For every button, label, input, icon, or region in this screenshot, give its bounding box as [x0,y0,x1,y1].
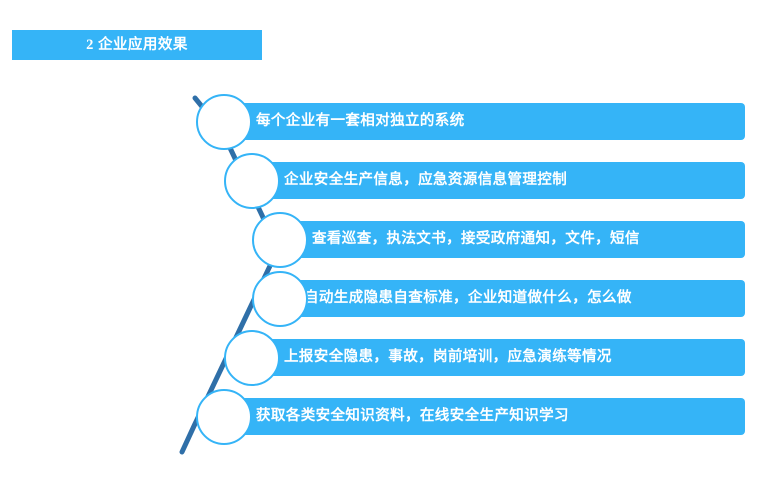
step-node-circle[interactable] [252,271,308,327]
step-bar[interactable]: 获取各类安全知识资料，在线安全生产知识学习 [226,398,745,435]
step-label: 上报安全隐患，事故，岗前培训，应急演练等情况 [284,350,612,365]
step-node-circle[interactable] [252,212,308,268]
step-node-circle[interactable] [196,389,252,445]
step-bar[interactable]: 企业安全生产信息，应急资源信息管理控制 [254,162,745,199]
step-bar[interactable]: 上报安全隐患，事故，岗前培训，应急演练等情况 [254,339,745,376]
step-label: 获取各类安全知识资料，在线安全生产知识学习 [256,409,569,424]
step-node-circle[interactable] [224,330,280,386]
step-label: 每个企业有一套相对独立的系统 [256,114,465,129]
step-label: 企业安全生产信息，应急资源信息管理控制 [284,173,567,188]
slide-canvas: 2 企业应用效果 每个企业有一套相对独立的系统 企业安全生产信息，应急资源信息管… [0,0,777,482]
step-node-circle[interactable] [224,153,280,209]
step-bar[interactable]: 每个企业有一套相对独立的系统 [226,103,745,140]
step-label: 查看巡查，执法文书，接受政府通知，文件，短信 [312,232,640,247]
step-bar[interactable]: 查看巡查，执法文书，接受政府通知，文件，短信 [282,221,745,258]
step-label: 自动生成隐患自查标准，企业知道做什么，怎么做 [304,291,632,306]
step-node-circle[interactable] [196,94,252,150]
step-bar[interactable]: 自动生成隐患自查标准，企业知道做什么，怎么做 [282,280,745,317]
process-diagram: 每个企业有一套相对独立的系统 企业安全生产信息，应急资源信息管理控制 查看巡查，… [0,0,777,482]
